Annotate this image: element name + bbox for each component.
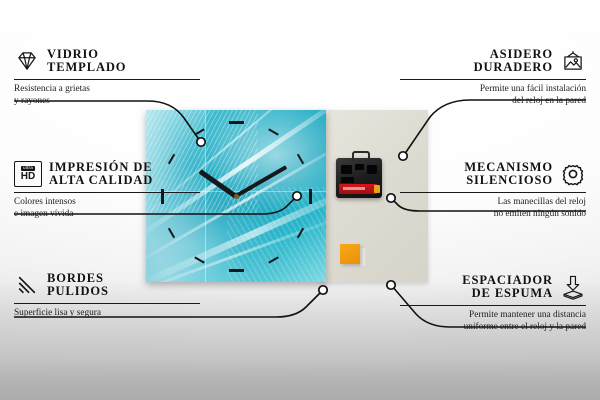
glass-seam-vertical <box>205 110 206 282</box>
mechanism-hanger <box>352 151 370 161</box>
foam-spacer-icon <box>560 274 586 300</box>
battery-terminal <box>374 185 380 193</box>
mechanism-slot <box>341 165 352 174</box>
mechanism-slot <box>367 165 377 174</box>
battery <box>339 184 377 194</box>
feature-titles: VIDRIO TEMPLADO <box>47 48 126 75</box>
feature-rule <box>400 192 586 193</box>
feature-description: Las manecillas del reloj no emiten ningú… <box>400 196 586 221</box>
mechanism-slot <box>341 177 354 183</box>
ultra-hd-icon-hd: HD <box>21 172 35 182</box>
feature-titles: ASIDERO DURADERO <box>474 48 553 75</box>
foam-spacer-side <box>360 248 365 266</box>
feature-description: Permite mantener una distancia uniforme … <box>400 309 586 334</box>
feature-desc-line1: Colores intensos <box>14 196 200 208</box>
feature-title-line1: VIDRIO <box>47 48 99 61</box>
clock-tick <box>229 121 244 124</box>
diamond-icon <box>14 48 40 74</box>
feature-desc-line2: no emiten ningún sonido <box>400 208 586 220</box>
feature-title-line2: DURADERO <box>474 61 553 74</box>
feature-title-line2: ALTA CALIDAD <box>49 174 153 187</box>
polished-edges-icon <box>14 272 40 298</box>
feature-header: MECANISMO SILENCIOSO <box>400 161 586 188</box>
clock-tick <box>229 269 244 272</box>
feature-desc-line1: Permite mantener una distancia <box>400 309 586 321</box>
feature-rule <box>14 79 200 80</box>
feature-asidero-duradero: ASIDERO DURADERO Permite una fácil insta… <box>400 48 586 107</box>
hanging-frame-icon <box>560 48 586 74</box>
feature-description: Colores intensos e imagen vívida <box>14 196 200 221</box>
feature-titles: MECANISMO SILENCIOSO <box>464 161 553 188</box>
top-fade <box>0 0 600 46</box>
feature-desc-line2: uniforme entre el reloj y la pared <box>400 321 586 333</box>
feature-desc-line2: y rayones <box>14 95 200 107</box>
feature-titles: ESPACIADOR DE ESPUMA <box>462 274 553 301</box>
feature-title-line1: MECANISMO <box>464 161 553 174</box>
clock-tick <box>268 128 279 135</box>
feature-header: ultra HD IMPRESIÓN DE ALTA CALIDAD <box>14 161 200 188</box>
clock-tick <box>168 228 175 239</box>
background-floor-gradient-lower <box>0 358 600 400</box>
feature-desc-line2: del reloj en la pared <box>400 95 586 107</box>
mechanism-slot <box>355 164 364 170</box>
feature-title-line1: IMPRESIÓN DE <box>49 161 153 174</box>
clock-tick <box>296 154 303 165</box>
feature-header: VIDRIO TEMPLADO <box>14 48 200 75</box>
clock-mechanism <box>336 158 382 198</box>
feature-vidrio-templado: VIDRIO TEMPLADO Resistencia a grietas y … <box>14 48 200 107</box>
feature-mecanismo-silencioso: MECANISMO SILENCIOSO Las manecillas del … <box>400 161 586 220</box>
feature-title-line1: BORDES <box>47 272 104 285</box>
feature-desc-line1: Permite una fácil instalación <box>400 83 586 95</box>
feature-rule <box>14 192 200 193</box>
feature-titles: IMPRESIÓN DE ALTA CALIDAD <box>49 161 153 188</box>
feature-espaciador-de-espuma: ESPACIADOR DE ESPUMA Permite mantener un… <box>400 274 586 333</box>
feature-desc-line1: Resistencia a grietas <box>14 83 200 95</box>
feature-rule <box>400 305 586 306</box>
feature-title-line2: TEMPLADO <box>47 61 126 74</box>
feature-titles: BORDES PULIDOS <box>47 272 109 299</box>
feature-description: Resistencia a grietas y rayones <box>14 83 200 108</box>
feature-header: ASIDERO DURADERO <box>400 48 586 75</box>
clock-center-cap <box>234 194 239 199</box>
feature-title-line2: SILENCIOSO <box>466 174 553 187</box>
infographic-stage: VIDRIO TEMPLADO Resistencia a grietas y … <box>0 0 600 400</box>
feature-description: Superficie lisa y segura <box>14 307 200 319</box>
feature-rule <box>14 303 200 304</box>
feature-header: ESPACIADOR DE ESPUMA <box>400 274 586 301</box>
clock-tick <box>309 189 312 204</box>
feature-title-line2: PULIDOS <box>47 285 109 298</box>
feature-desc-line1: Las manecillas del reloj <box>400 196 586 208</box>
feature-desc-line1: Superficie lisa y segura <box>14 307 200 319</box>
feature-rule <box>400 79 586 80</box>
feature-title-line1: ASIDERO <box>490 48 553 61</box>
foam-spacer <box>340 244 360 264</box>
gear-icon <box>560 161 586 187</box>
feature-bordes-pulidos: BORDES PULIDOS Superficie lisa y segura <box>14 272 200 319</box>
feature-title-line1: ESPACIADOR <box>462 274 553 287</box>
feature-desc-line2: e imagen vívida <box>14 208 200 220</box>
ultra-hd-icon: ultra HD <box>14 161 42 187</box>
connector-asidero <box>404 100 586 155</box>
feature-header: BORDES PULIDOS <box>14 272 200 299</box>
feature-description: Permite una fácil instalación del reloj … <box>400 83 586 108</box>
feature-impresion-alta-calidad: ultra HD IMPRESIÓN DE ALTA CALIDAD Color… <box>14 161 200 220</box>
battery-label-stripe <box>343 187 365 190</box>
feature-title-line2: DE ESPUMA <box>472 287 553 300</box>
